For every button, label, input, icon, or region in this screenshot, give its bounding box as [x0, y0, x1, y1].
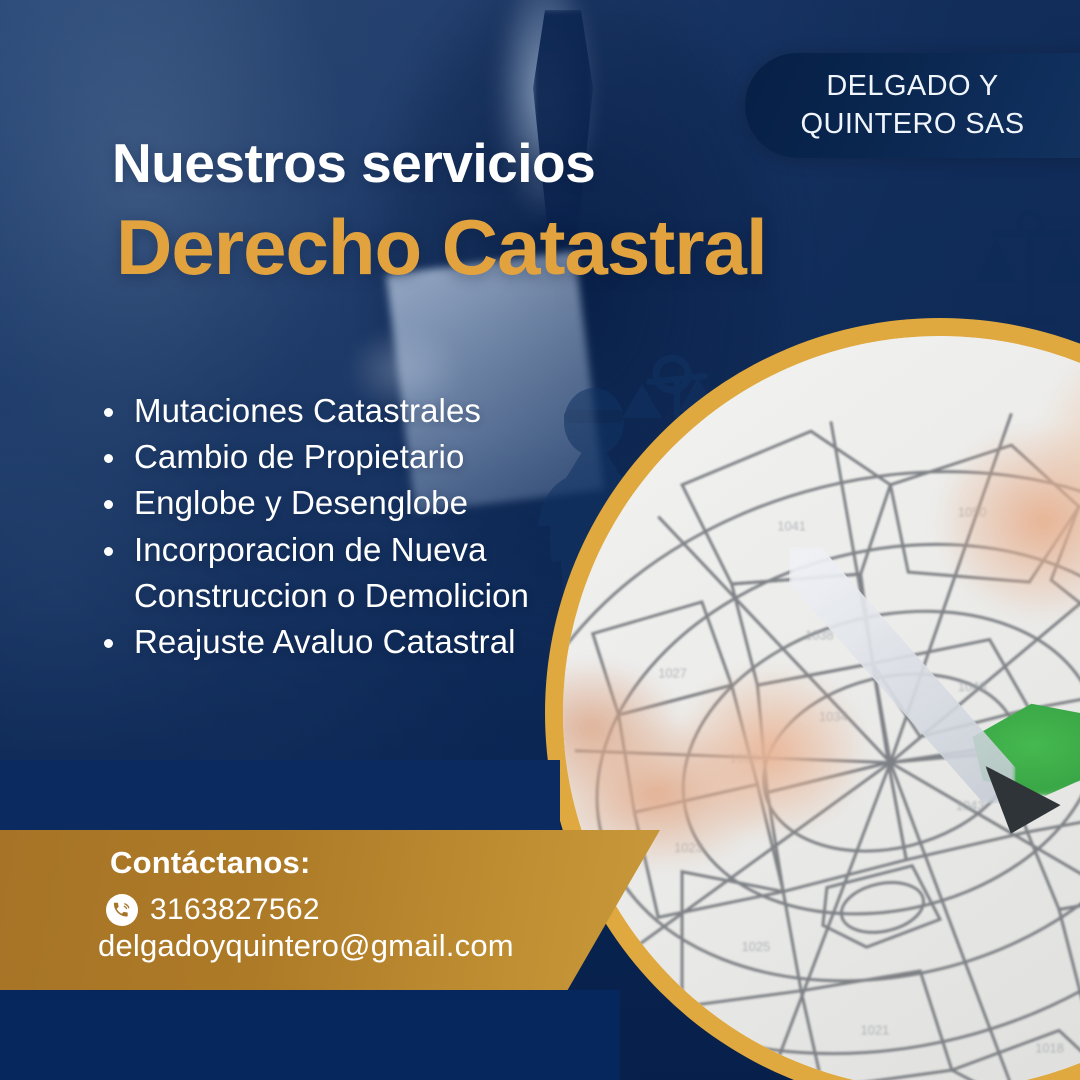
- contact-phone-number[interactable]: 3163827562: [150, 893, 320, 927]
- contact-phone-row[interactable]: 3163827562: [106, 893, 320, 927]
- list-item: Cambio de Propietario: [96, 434, 566, 480]
- navy-filler-strip: [0, 760, 560, 832]
- list-item: Incorporacion de Nueva Construccion o De…: [96, 527, 566, 619]
- list-item: Reajuste Avaluo Catastral: [96, 619, 566, 665]
- bottom-navy-strip: [0, 990, 620, 1080]
- phone-call-icon: [106, 894, 138, 926]
- brand-line-1: DELGADO Y: [826, 68, 998, 105]
- circular-photo: 10411050 10621071 10381046 10581068 1034…: [545, 318, 1080, 1080]
- poster-canvas: DELGADO Y QUINTERO SAS Nuestros servicio…: [0, 0, 1080, 1080]
- services-list: Mutaciones Catastrales Cambio de Propiet…: [96, 388, 566, 665]
- contact-email-address[interactable]: delgadoyquintero@gmail.com: [98, 928, 514, 964]
- brand-badge: DELGADO Y QUINTERO SAS: [745, 53, 1080, 158]
- contact-heading: Contáctanos:: [110, 845, 310, 881]
- list-item: Englobe y Desenglobe: [96, 480, 566, 526]
- hand-right-shape: [917, 336, 1080, 653]
- contact-band: [0, 830, 660, 990]
- cadastral-map-image: 10411050 10621071 10381046 10581068 1034…: [563, 336, 1080, 1080]
- eyebrow-heading: Nuestros servicios: [112, 136, 595, 191]
- brand-line-2: QUINTERO SAS: [801, 106, 1025, 143]
- page-title: Derecho Catastral: [116, 208, 767, 286]
- list-item: Mutaciones Catastrales: [96, 388, 566, 434]
- brand-badge-text: DELGADO Y QUINTERO SAS: [745, 53, 1080, 158]
